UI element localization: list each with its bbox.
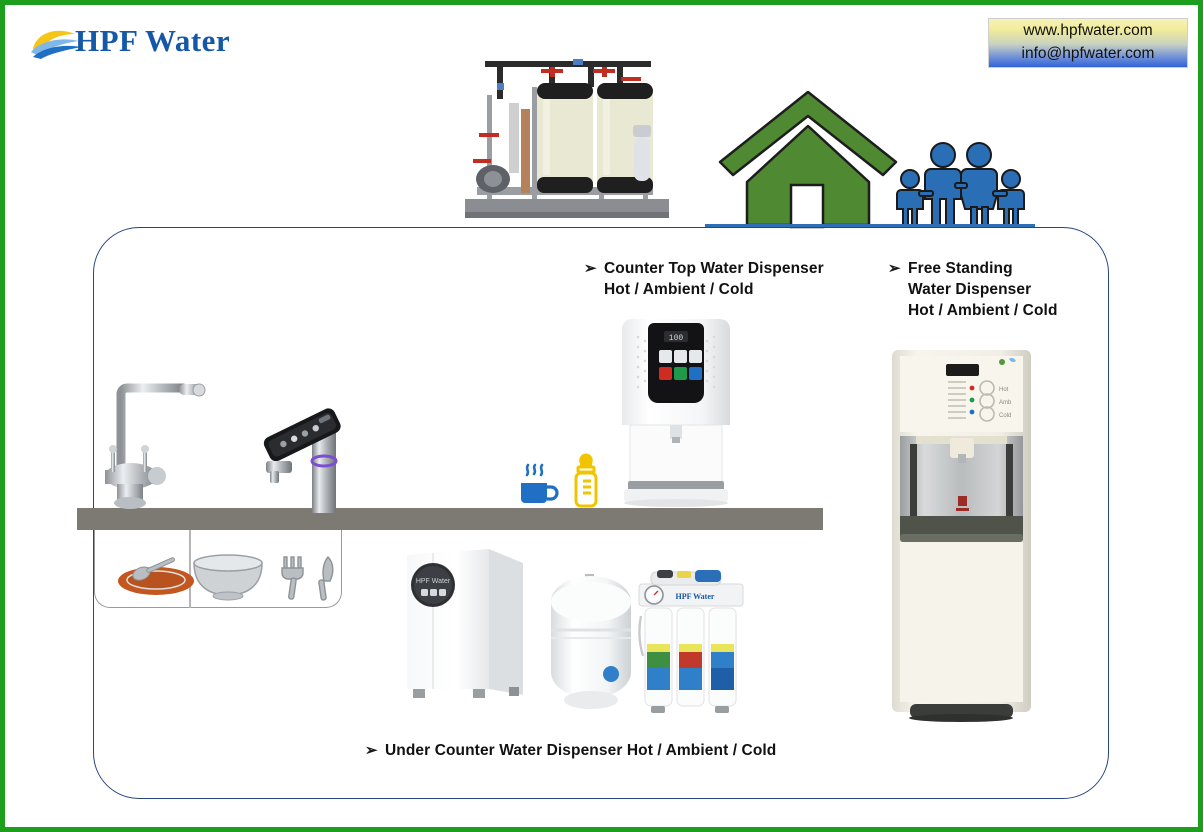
bullet-arrow-icon: ➢: [584, 258, 597, 279]
free-standing-water-dispenser-image: Hot Amb Cold: [888, 346, 1035, 725]
bullet-arrow-icon: ➢: [365, 740, 378, 761]
baby-bottle-icon: [571, 453, 601, 509]
hot-drink-mug-icon: [517, 463, 559, 509]
label-free-standing-line2: Water Dispenser: [908, 279, 1108, 300]
svg-text:Hot: Hot: [999, 387, 1009, 393]
family-group-icon: [893, 135, 1029, 227]
svg-text:HPF Water: HPF Water: [416, 578, 451, 585]
touch-panel-dispenser-tap-image: [260, 397, 352, 513]
green-house-icon: [717, 90, 899, 227]
label-under-counter-dispenser: ➢ Under Counter Water Dispenser Hot / Am…: [385, 740, 815, 761]
svg-text:100: 100: [669, 334, 684, 343]
contact-info-box: www.hpfwater.com info@hpfwater.com: [988, 18, 1188, 68]
brand-logo: HPF Water: [27, 21, 287, 67]
label-counter-top-line2: Hot / Ambient / Cold: [604, 279, 864, 300]
under-counter-water-dispenser-image: HPF Water: [397, 539, 527, 709]
industrial-water-treatment-plant-image: [457, 47, 677, 227]
three-way-kitchen-faucet-image: [87, 372, 217, 512]
svg-text:Amb: Amb: [999, 400, 1012, 406]
ro-pressure-tank-image: [539, 572, 643, 713]
fork-and-knife-icon: [272, 555, 342, 601]
email-text: info@hpfwater.com: [989, 42, 1187, 65]
label-counter-top-dispenser: ➢ Counter Top Water Dispenser Hot / Ambi…: [604, 258, 864, 300]
label-free-standing-line1: Free Standing: [908, 258, 1108, 279]
brand-logo-text: HPF Water: [75, 23, 230, 59]
bowl-icon: [190, 553, 266, 601]
counter-top-water-dispenser-image: 100: [618, 313, 734, 509]
ro-filters-brand-text: HPF Water: [676, 592, 715, 601]
label-counter-top-line1: Counter Top Water Dispenser: [604, 258, 864, 279]
label-free-standing-line3: Hot / Ambient / Cold: [908, 300, 1108, 321]
ro-filter-system-image: HPF Water: [637, 568, 745, 716]
label-under-counter-line1: Under Counter Water Dispenser Hot / Ambi…: [385, 740, 815, 761]
website-text: www.hpfwater.com: [989, 19, 1187, 42]
poster-page: HPF Water www.hpfwater.com info@hpfwater…: [0, 0, 1203, 832]
label-free-standing-dispenser: ➢ Free Standing Water Dispenser Hot / Am…: [908, 258, 1108, 321]
plate-with-spoon-icon: [115, 561, 197, 597]
bullet-arrow-icon: ➢: [888, 258, 901, 279]
svg-text:Cold: Cold: [999, 413, 1011, 419]
